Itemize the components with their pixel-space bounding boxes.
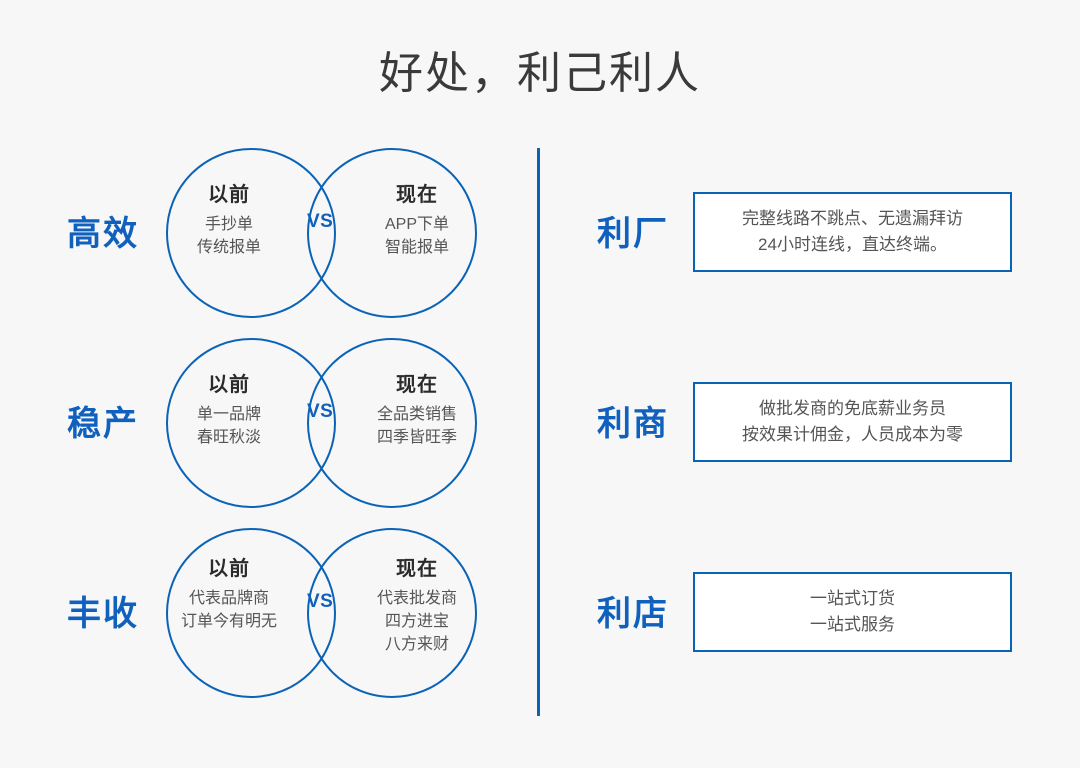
venn-before-text: 以前 代表品牌商 订单今有明无 — [164, 528, 294, 633]
comparison-row: 丰收 以前 代表品牌商 订单今有明无 现在 代表批发商 四方进宝 八方来财 VS — [0, 518, 520, 708]
venn-after-line: 代表批发商 — [352, 587, 482, 610]
benefit-row-label: 利商 — [578, 396, 688, 445]
page-title: 好处，利己利人 — [0, 48, 1080, 101]
venn-after-line: 八方来财 — [352, 633, 482, 656]
venn-before-line: 单一品牌 — [164, 403, 294, 426]
venn-diagram: 以前 手抄单 传统报单 现在 APP下单 智能报单 VS — [166, 148, 478, 320]
venn-after-text: 现在 代表批发商 四方进宝 八方来财 — [352, 528, 482, 657]
benefit-line: 完整线路不跳点、无遗漏拜访 — [742, 206, 963, 232]
benefit-line: 按效果计佣金，人员成本为零 — [742, 422, 963, 448]
comparison-row-label: 丰收 — [48, 586, 158, 635]
venn-after-line: 全品类销售 — [352, 403, 482, 426]
benefits-panel: 利厂 完整线路不跳点、无遗漏拜访 24小时连线，直达终端。 利商 做批发商的免底… — [560, 138, 1080, 728]
comparison-row-label: 高效 — [48, 206, 158, 255]
vertical-divider — [537, 148, 540, 716]
comparison-row: 高效 以前 手抄单 传统报单 现在 APP下单 智能报单 VS — [0, 138, 520, 328]
venn-before-line: 传统报单 — [164, 236, 294, 259]
benefit-line: 一站式订货 — [810, 586, 895, 612]
benefit-line: 24小时连线，直达终端。 — [758, 232, 947, 258]
venn-before-heading: 以前 — [164, 182, 294, 208]
benefit-box: 完整线路不跳点、无遗漏拜访 24小时连线，直达终端。 — [693, 192, 1012, 272]
venn-before-line: 订单今有明无 — [164, 610, 294, 633]
venn-after-line: 四方进宝 — [352, 610, 482, 633]
comparison-panel: 高效 以前 手抄单 传统报单 现在 APP下单 智能报单 VS 稳产 以前 — [0, 138, 520, 728]
venn-diagram: 以前 代表品牌商 订单今有明无 现在 代表批发商 四方进宝 八方来财 VS — [166, 528, 478, 700]
vs-badge: VS — [307, 211, 332, 233]
venn-before-heading: 以前 — [164, 372, 294, 398]
vs-badge: VS — [307, 591, 332, 613]
venn-after-heading: 现在 — [352, 182, 482, 208]
venn-after-line: APP下单 — [352, 213, 482, 236]
venn-before-text: 以前 单一品牌 春旺秋淡 — [164, 338, 294, 449]
benefit-box: 做批发商的免底薪业务员 按效果计佣金，人员成本为零 — [693, 382, 1012, 462]
benefit-line: 做批发商的免底薪业务员 — [759, 396, 946, 422]
venn-after-line: 四季皆旺季 — [352, 426, 482, 449]
venn-before-text: 以前 手抄单 传统报单 — [164, 148, 294, 259]
venn-after-line: 智能报单 — [352, 236, 482, 259]
benefit-row-label: 利店 — [578, 586, 688, 635]
venn-after-text: 现在 APP下单 智能报单 — [352, 148, 482, 259]
venn-before-line: 代表品牌商 — [164, 587, 294, 610]
benefit-box: 一站式订货 一站式服务 — [693, 572, 1012, 652]
vs-badge: VS — [307, 401, 332, 423]
venn-after-heading: 现在 — [352, 372, 482, 398]
comparison-row: 稳产 以前 单一品牌 春旺秋淡 现在 全品类销售 四季皆旺季 VS — [0, 328, 520, 518]
benefit-row-label: 利厂 — [578, 206, 688, 255]
venn-after-heading: 现在 — [352, 556, 482, 582]
benefit-line: 一站式服务 — [810, 612, 895, 638]
venn-after-text: 现在 全品类销售 四季皆旺季 — [352, 338, 482, 449]
venn-before-line: 手抄单 — [164, 213, 294, 236]
venn-before-line: 春旺秋淡 — [164, 426, 294, 449]
comparison-row-label: 稳产 — [48, 396, 158, 445]
benefit-row: 利商 做批发商的免底薪业务员 按效果计佣金，人员成本为零 — [560, 328, 1080, 518]
venn-diagram: 以前 单一品牌 春旺秋淡 现在 全品类销售 四季皆旺季 VS — [166, 338, 478, 510]
benefit-row: 利厂 完整线路不跳点、无遗漏拜访 24小时连线，直达终端。 — [560, 138, 1080, 328]
benefit-row: 利店 一站式订货 一站式服务 — [560, 518, 1080, 708]
venn-before-heading: 以前 — [164, 556, 294, 582]
